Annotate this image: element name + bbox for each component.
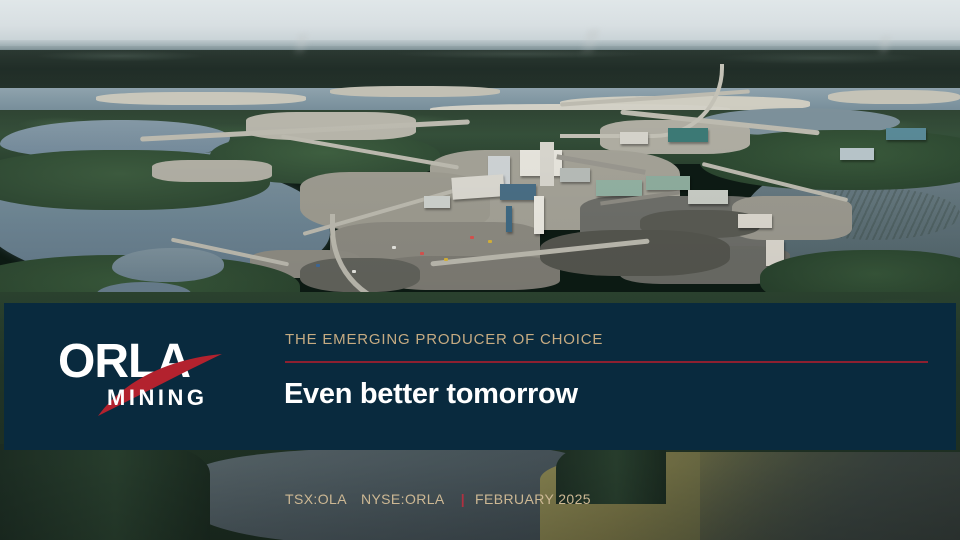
aerial-mine-photo — [0, 0, 960, 540]
mine-building — [451, 174, 504, 200]
mine-building — [620, 132, 648, 144]
mine-building — [596, 180, 642, 196]
mine-building — [646, 176, 690, 190]
sandbar — [330, 86, 500, 97]
headframe — [540, 142, 554, 186]
mine-building — [886, 128, 926, 140]
mine-building — [506, 206, 512, 232]
accent-divider — [285, 361, 928, 363]
mine-building — [688, 190, 728, 204]
logo-subtitle: MINING — [107, 386, 207, 410]
presentation-date: FEBRUARY 2025 — [475, 491, 591, 507]
sandbar — [96, 92, 306, 105]
mine-building — [668, 128, 708, 142]
pond — [112, 248, 224, 282]
gravel-pad — [152, 160, 272, 182]
page-title: Even better tomorrow — [284, 378, 578, 411]
slide-canvas: ORLA MINING THE EMERGING PRODUCER OF CHO… — [0, 0, 960, 540]
orla-mining-logo: ORLA MINING — [58, 336, 228, 420]
footer-ticker-line: TSX:OLA NYSE:ORLA | FEBRUARY 2025 — [285, 491, 591, 507]
vehicle — [420, 252, 424, 255]
footer-separator: | — [461, 491, 465, 507]
vehicle — [444, 258, 448, 261]
mine-building — [534, 196, 544, 234]
waste-rock-pile — [540, 230, 730, 276]
tsx-ticker: TSX:OLA — [285, 491, 347, 507]
vehicle — [470, 236, 474, 239]
foreground-deep-water — [700, 452, 960, 540]
shoreline-trees — [0, 444, 210, 540]
eyebrow-text: THE EMERGING PRODUCER OF CHOICE — [285, 331, 603, 348]
sandbar — [828, 90, 960, 104]
vehicle — [392, 246, 396, 249]
mine-building — [424, 196, 450, 208]
vehicle — [316, 264, 320, 267]
mine-building — [500, 184, 536, 200]
mine-building — [738, 214, 772, 228]
vehicle — [352, 270, 356, 273]
vehicle — [488, 240, 492, 243]
nyse-ticker: NYSE:ORLA — [361, 491, 445, 507]
mine-building — [560, 168, 590, 182]
mine-building — [840, 148, 874, 160]
